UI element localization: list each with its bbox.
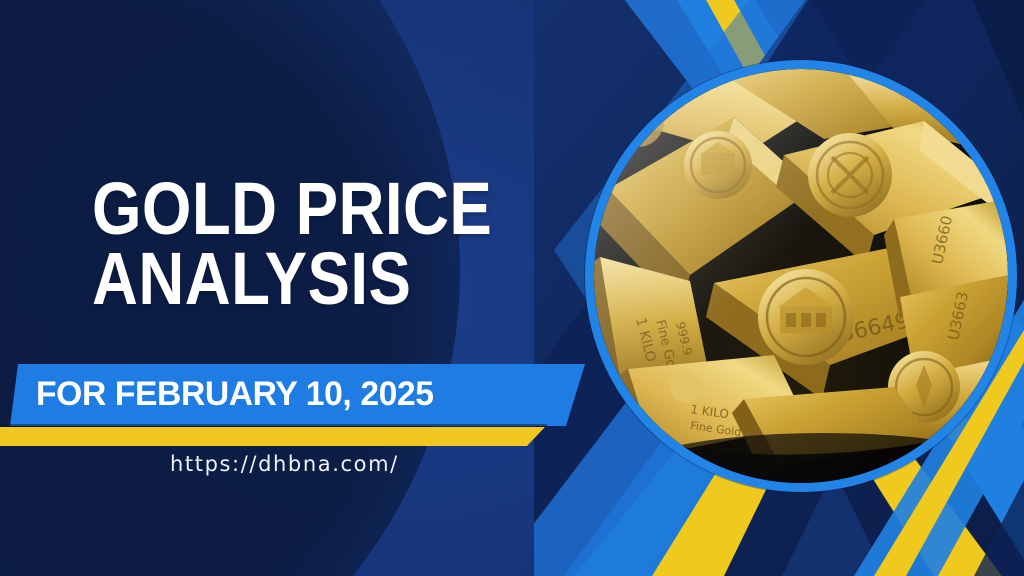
- subtitle-text: FOR FEBRUARY 10, 2025: [36, 375, 434, 414]
- subtitle-yellow-band: [0, 427, 545, 446]
- page-title: GOLD PRICE ANALYSIS: [92, 174, 496, 313]
- gold-bullion-circle: U36649 1 KILO Fine Gold 999.9 U3660: [585, 60, 1017, 492]
- website-url[interactable]: https://dhbna.com/: [170, 452, 399, 476]
- gold-price-analysis-banner: U36649 1 KILO Fine Gold 999.9 U3660: [0, 0, 1024, 576]
- gold-bars-photo: U36649 1 KILO Fine Gold 999.9 U3660: [594, 69, 1008, 483]
- title-line-2: ANALYSIS: [92, 244, 496, 314]
